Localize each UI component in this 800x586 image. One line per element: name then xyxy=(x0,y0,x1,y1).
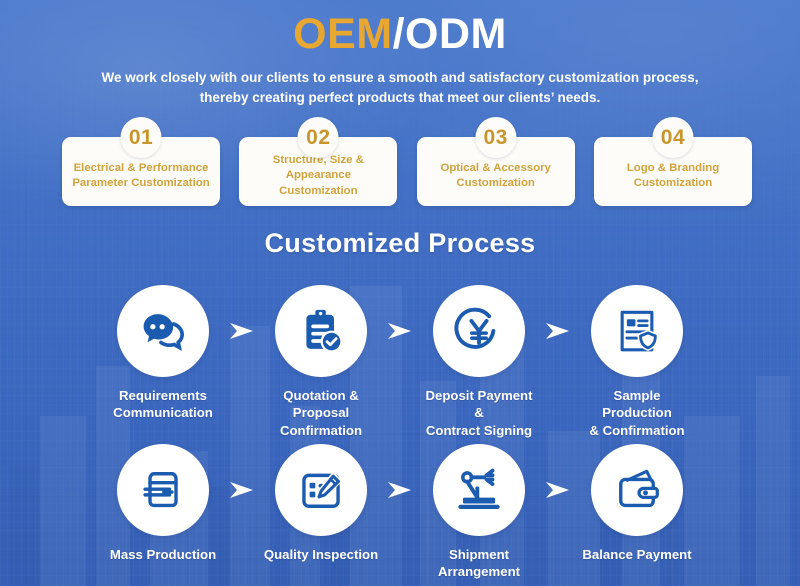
process-step[interactable]: Requirements Communication xyxy=(104,285,222,422)
process-step[interactable]: Sample Production & Confirmation xyxy=(578,285,696,439)
process-section-title: Customized Process xyxy=(0,228,800,259)
page-title-oem: OEM xyxy=(293,10,392,58)
chevron-right-icon xyxy=(229,321,255,341)
chevron-right-icon xyxy=(229,480,255,500)
card-number-badge: 03 xyxy=(475,117,516,158)
process-arrow xyxy=(543,444,573,536)
chevron-right-icon xyxy=(545,321,571,341)
process-icon-circle xyxy=(433,444,525,536)
process-arrow xyxy=(543,285,573,377)
card-number-badge: 02 xyxy=(298,117,339,158)
process-icon-circle xyxy=(117,285,209,377)
customization-card[interactable]: 01 Electrical & Performance Parameter Cu… xyxy=(62,137,220,206)
page-title-odm: ODM xyxy=(405,10,507,58)
card-label: Optical & Accessory Customization xyxy=(440,161,550,191)
yen-circle-icon xyxy=(452,304,506,358)
chevron-right-icon xyxy=(387,321,413,341)
process-arrow xyxy=(227,444,257,536)
chevron-right-icon xyxy=(387,480,413,500)
robot-arm-icon xyxy=(452,463,506,517)
page-title: OEM/ODM xyxy=(0,12,800,57)
process-icon-circle xyxy=(275,285,367,377)
process-step[interactable]: Quality Inspection xyxy=(262,444,380,563)
document-shield-icon xyxy=(612,306,662,356)
process-step-label: Requirements Communication xyxy=(113,387,213,422)
process-icon-circle xyxy=(433,285,525,377)
page-subtitle: We work closely with our clients to ensu… xyxy=(100,68,700,107)
process-step-label: Mass Production xyxy=(110,546,216,563)
customization-card-list: 01 Electrical & Performance Parameter Cu… xyxy=(62,137,752,206)
card-label: Logo & Branding Customization xyxy=(627,161,719,191)
process-step[interactable]: Balance Payment xyxy=(578,444,696,563)
process-step[interactable]: Mass Production xyxy=(104,444,222,563)
process-row-1: Requirements Communication xyxy=(104,285,696,439)
process-arrow xyxy=(227,285,257,377)
card-label: Electrical & Performance Parameter Custo… xyxy=(72,161,209,191)
process-icon-circle xyxy=(591,285,683,377)
process-step[interactable]: Deposit Payment & Contract Signing xyxy=(420,285,538,439)
process-step[interactable]: Quotation & Proposal Confirmation xyxy=(262,285,380,439)
customization-card[interactable]: 02 Structure, Size & Appearance Customiz… xyxy=(239,137,397,206)
chat-bubbles-icon xyxy=(136,304,190,358)
process-step-label: Deposit Payment & Contract Signing xyxy=(420,387,538,439)
page-title-slash: / xyxy=(393,10,405,58)
process-icon-circle xyxy=(591,444,683,536)
oem-odm-infographic: OEM/ODM We work closely with our clients… xyxy=(0,0,800,586)
card-number-badge: 04 xyxy=(652,117,693,158)
process-step-label: Sample Production & Confirmation xyxy=(578,387,696,439)
checklist-pencil-icon xyxy=(295,464,347,516)
card-label: Structure, Size & Appearance Customizati… xyxy=(245,153,391,198)
process-row-2: Mass Production Quality Inspe xyxy=(104,444,696,581)
process-step-label: Quality Inspection xyxy=(264,546,378,563)
process-arrow xyxy=(385,285,415,377)
process-icon-circle xyxy=(275,444,367,536)
chevron-right-icon xyxy=(545,480,571,500)
process-step-label: Shipment Arrangement xyxy=(438,546,520,581)
box-arrow-icon xyxy=(137,464,189,516)
clipboard-check-icon xyxy=(295,305,347,357)
process-step[interactable]: Shipment Arrangement xyxy=(420,444,538,581)
process-step-label: Balance Payment xyxy=(582,546,691,563)
customization-card[interactable]: 03 Optical & Accessory Customization xyxy=(417,137,575,206)
process-step-label: Quotation & Proposal Confirmation xyxy=(262,387,380,439)
card-number-badge: 01 xyxy=(121,117,162,158)
wallet-icon xyxy=(611,464,663,516)
customization-card[interactable]: 04 Logo & Branding Customization xyxy=(594,137,752,206)
process-arrow xyxy=(385,444,415,536)
process-icon-circle xyxy=(117,444,209,536)
